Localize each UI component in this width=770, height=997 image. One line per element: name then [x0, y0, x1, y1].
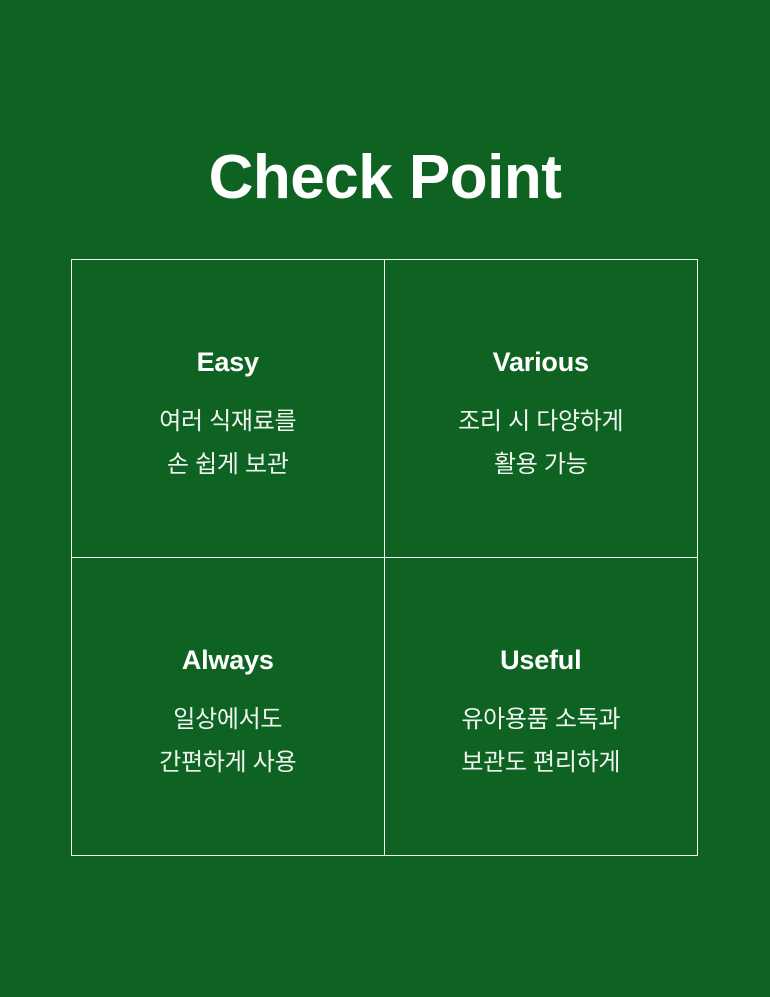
grid-cell-body-line: 손 쉽게 보관: [159, 443, 296, 486]
grid-cell-useful: Useful 유아용품 소독과 보관도 편리하게: [385, 558, 698, 856]
grid-cell-heading: Useful: [500, 644, 581, 676]
grid-cell-body: 여러 식재료를 손 쉽게 보관: [159, 400, 296, 486]
check-point-panel: Check Point Easy 여러 식재료를 손 쉽게 보관 Various…: [0, 0, 770, 997]
grid-cell-body-line: 유아용품 소독과: [461, 698, 620, 741]
check-point-grid: Easy 여러 식재료를 손 쉽게 보관 Various 조리 시 다양하게 활…: [71, 259, 698, 856]
grid-cell-heading: Various: [493, 346, 589, 378]
grid-cell-body: 유아용품 소독과 보관도 편리하게: [461, 698, 620, 784]
grid-cell-heading: Always: [182, 644, 274, 676]
grid-cell-always: Always 일상에서도 간편하게 사용: [72, 558, 385, 856]
grid-cell-body-line: 간편하게 사용: [159, 741, 296, 784]
grid-cell-easy: Easy 여러 식재료를 손 쉽게 보관: [72, 260, 385, 558]
grid-cell-heading: Easy: [197, 346, 259, 378]
grid-cell-body-line: 일상에서도: [159, 698, 296, 741]
grid-cell-body: 조리 시 다양하게 활용 가능: [458, 400, 623, 486]
grid-cell-various: Various 조리 시 다양하게 활용 가능: [385, 260, 698, 558]
page-title: Check Point: [0, 142, 770, 214]
grid-cell-body-line: 조리 시 다양하게: [458, 400, 623, 443]
grid-cell-body-line: 보관도 편리하게: [461, 741, 620, 784]
grid-cell-body-line: 활용 가능: [458, 443, 623, 486]
grid-cell-body-line: 여러 식재료를: [159, 400, 296, 443]
grid-cell-body: 일상에서도 간편하게 사용: [159, 698, 296, 784]
